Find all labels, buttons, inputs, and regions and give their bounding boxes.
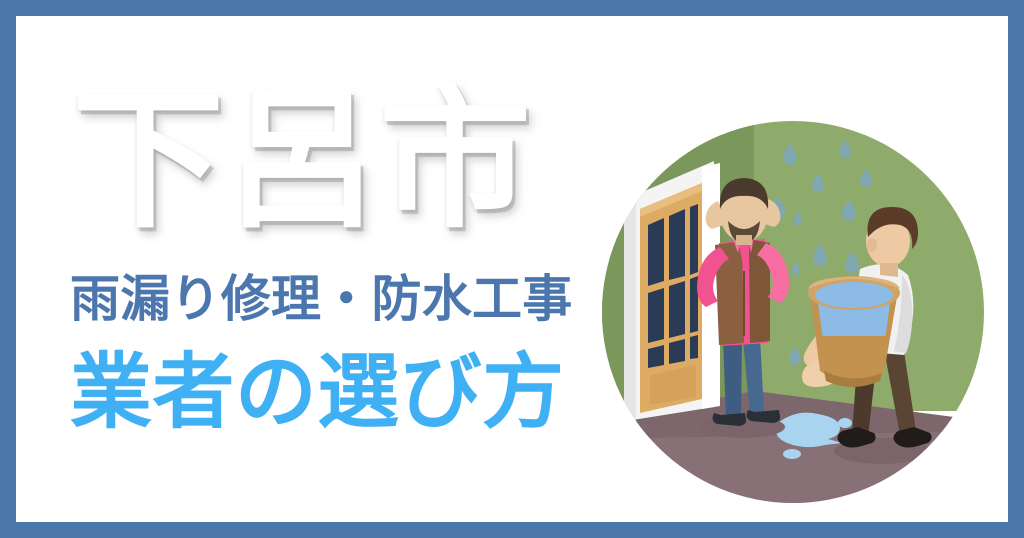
banner-frame: 下呂市 雨漏り修理・防水工事 業者の選び方 bbox=[0, 0, 1024, 538]
ear bbox=[867, 238, 877, 252]
leg-left bbox=[723, 339, 742, 419]
shoe-left bbox=[713, 413, 747, 426]
neck bbox=[880, 263, 898, 277]
water-surface bbox=[815, 282, 893, 308]
service-subtitle: 雨漏り修理・防水工事 bbox=[70, 271, 573, 327]
door-frame-left bbox=[624, 197, 636, 423]
page-title: 下呂市 bbox=[72, 81, 533, 241]
banner-canvas: 下呂市 雨漏り修理・防水工事 業者の選び方 bbox=[16, 16, 1008, 522]
headline-block: 下呂市 雨漏り修理・防水工事 業者の選び方 bbox=[56, 76, 616, 466]
leaking-roof-illustration bbox=[602, 121, 984, 503]
neck bbox=[736, 235, 752, 245]
shoe-right bbox=[747, 410, 781, 423]
main-subtitle: 業者の選び方 bbox=[70, 348, 564, 438]
